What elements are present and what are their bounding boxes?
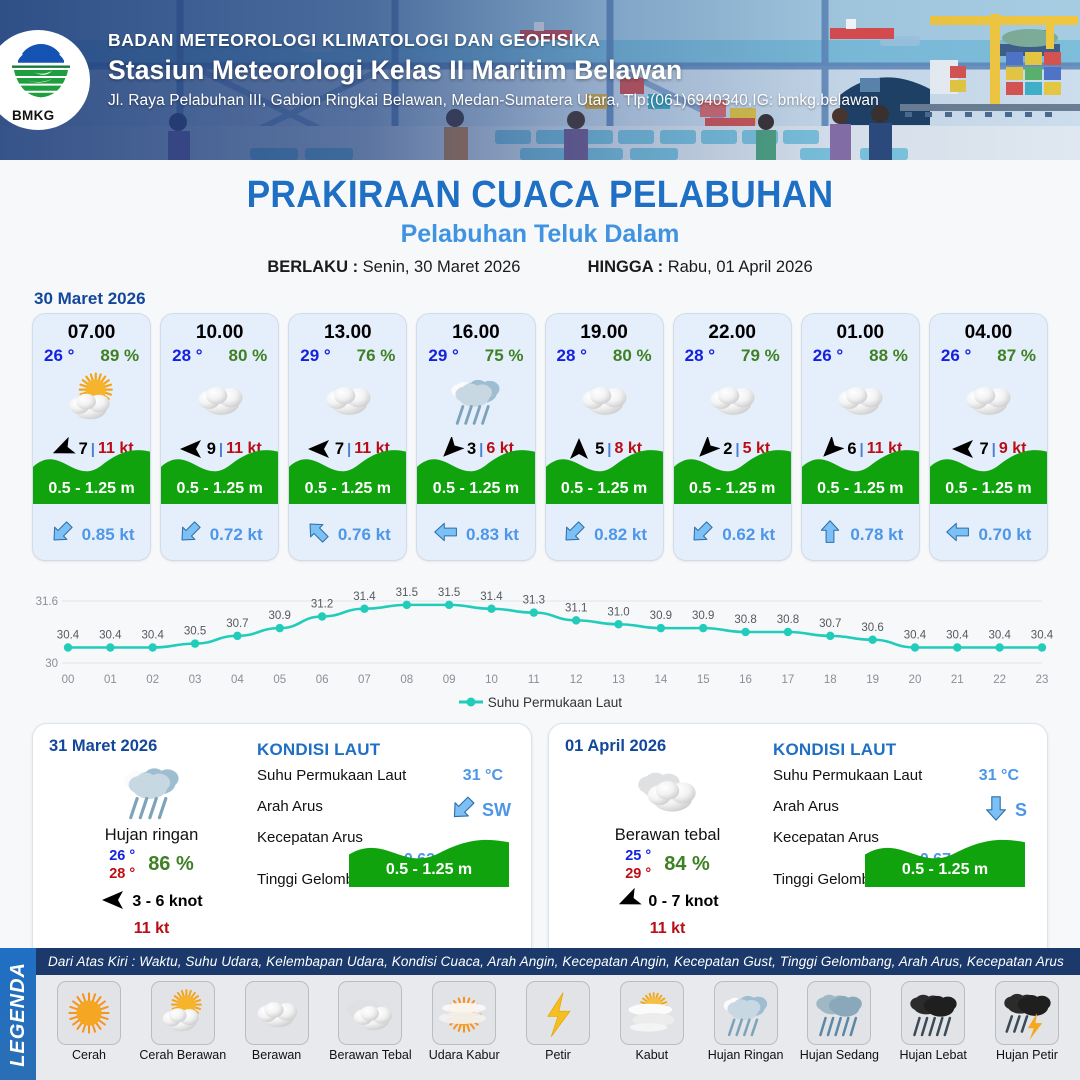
legend-body: Dari Atas Kiri : Waktu, Suhu Udara, Kele…	[36, 948, 1080, 1080]
card-current-speed: 0.62 kt	[722, 525, 775, 545]
card-humidity: 76 %	[357, 346, 396, 366]
card-humidity: 75 %	[485, 346, 524, 366]
current-direction-value: S	[1015, 800, 1027, 821]
svg-text:14: 14	[654, 674, 667, 686]
daily-gust: 11 kt	[49, 920, 254, 938]
card-wave-graphic: 0.5 - 1.25 m	[930, 440, 1047, 504]
legend-icon-berawan-tebal	[338, 981, 402, 1045]
hourly-card: 22.00 28 ° 79 % 2 | 5 kt 0.5 - 1.25 m	[673, 313, 792, 561]
card-wave-height: 0.5 - 1.25 m	[802, 480, 919, 498]
page-header: BMKG BADAN METEOROLOGI KLIMATOLOGI DAN G…	[0, 0, 1080, 160]
legend-item: Hujan Ringan	[701, 981, 791, 1062]
legend-item: Petir	[513, 981, 603, 1062]
bmkg-logo-mark	[8, 42, 74, 104]
svg-text:30.9: 30.9	[692, 610, 714, 622]
daily-wind-arrow-icon	[100, 888, 126, 917]
legend-item-label: Udara Kabur	[419, 1048, 509, 1062]
card-humidity: 80 %	[229, 346, 268, 366]
svg-text:02: 02	[146, 674, 159, 686]
page-title: PRAKIRAAN CUACA PELABUHAN	[38, 174, 1042, 217]
card-time: 19.00	[546, 322, 663, 344]
legend-item: Hujan Lebat	[888, 981, 978, 1062]
svg-text:12: 12	[570, 674, 583, 686]
svg-text:31.5: 31.5	[396, 587, 418, 599]
card-weather-icon	[417, 368, 534, 430]
agency-name: BADAN METEOROLOGI KLIMATOLOGI DAN GEOFIS…	[108, 30, 1058, 51]
svg-text:00: 00	[62, 674, 75, 686]
daily-wave-graphic: 0.5 - 1.25 m	[865, 831, 1025, 887]
svg-text:30.4: 30.4	[988, 630, 1011, 642]
legend-item: Hujan Sedang	[794, 981, 884, 1062]
chart-legend-swatch	[458, 696, 484, 711]
legend-icon-hujan-sedang	[807, 981, 871, 1045]
card-wave-height: 0.5 - 1.25 m	[289, 480, 406, 498]
svg-text:30.4: 30.4	[1031, 630, 1054, 642]
svg-text:31.4: 31.4	[480, 591, 503, 603]
daily-temp-max: 28 °	[109, 866, 135, 882]
legend-sidebar-title: LEGENDA	[7, 962, 30, 1067]
card-wave-height: 0.5 - 1.25 m	[161, 480, 278, 498]
card-wave-graphic: 0.5 - 1.25 m	[289, 440, 406, 504]
current-direction-label: Arah Arus	[773, 798, 839, 815]
hourly-card: 10.00 28 ° 80 % 9 | 11 kt 0.5 - 1.25 m	[160, 313, 279, 561]
svg-text:10: 10	[485, 674, 498, 686]
svg-text:19: 19	[866, 674, 879, 686]
sst-label: Suhu Permukaan Laut	[257, 767, 406, 784]
legend-item: Udara Kabur	[419, 981, 509, 1062]
card-temperature: 26 °	[813, 346, 843, 366]
card-wave-graphic: 0.5 - 1.25 m	[802, 440, 919, 504]
card-current-speed: 0.83 kt	[466, 525, 519, 545]
card-wave-graphic: 0.5 - 1.25 m	[161, 440, 278, 504]
current-direction-arrow-icon	[433, 519, 459, 550]
card-weather-icon	[802, 368, 919, 430]
card-time: 01.00	[802, 322, 919, 344]
card-temperature: 29 °	[428, 346, 458, 366]
svg-text:30.4: 30.4	[946, 630, 969, 642]
legend-icon-berawan	[245, 981, 309, 1045]
legend-icon-hujan-ringan	[714, 981, 778, 1045]
legend-item: Kabut	[607, 981, 697, 1062]
svg-text:08: 08	[400, 674, 413, 686]
card-temperature: 26 °	[44, 346, 74, 366]
card-temperature: 26 °	[941, 346, 971, 366]
sea-conditions-title: KONDISI LAUT	[257, 740, 517, 760]
legend-item: Hujan Petir	[982, 981, 1072, 1062]
valid-from-value: Senin, 30 Maret 2026	[363, 258, 521, 276]
card-humidity: 88 %	[869, 346, 908, 366]
svg-text:30.4: 30.4	[142, 630, 165, 642]
card-time: 10.00	[161, 322, 278, 344]
daily-gust: 11 kt	[565, 920, 770, 938]
current-direction-arrow-icon	[177, 519, 203, 550]
svg-text:20: 20	[909, 674, 922, 686]
valid-until-value: Rabu, 01 April 2026	[668, 258, 813, 276]
daily-temp-max: 29 °	[625, 866, 651, 882]
legend-item: Berawan Tebal	[325, 981, 415, 1062]
legend-item-label: Petir	[513, 1048, 603, 1062]
hourly-card: 19.00 28 ° 80 % 5 | 8 kt 0.5 - 1.25 m	[545, 313, 664, 561]
sst-chart: 31.63030.40030.40130.40230.50330.70430.9…	[24, 575, 1056, 693]
card-time: 22.00	[674, 322, 791, 344]
legend-item: Berawan	[232, 981, 322, 1062]
current-direction-arrow-icon	[49, 519, 75, 550]
legend-item-label: Hujan Petir	[982, 1048, 1072, 1062]
current-direction-arrow-icon	[689, 519, 715, 550]
legend-icon-cerah-berawan	[151, 981, 215, 1045]
svg-text:23: 23	[1036, 674, 1049, 686]
card-weather-icon	[289, 368, 406, 430]
daily-current-arrow-icon	[449, 794, 477, 827]
daily-temp-min: 25 °	[625, 848, 651, 864]
daily-wave-height: 0.5 - 1.25 m	[865, 861, 1025, 879]
svg-text:31.6: 31.6	[36, 596, 58, 608]
card-wave-graphic: 0.5 - 1.25 m	[546, 440, 663, 504]
hourly-card: 13.00 29 ° 76 % 7 | 11 kt 0.5 - 1.25 m	[288, 313, 407, 561]
daily-humidity: 86 %	[148, 853, 194, 876]
svg-text:31.2: 31.2	[311, 599, 333, 611]
validity-row: BERLAKU : Senin, 30 Maret 2026 HINGGA : …	[0, 258, 1080, 277]
svg-text:30.9: 30.9	[650, 610, 672, 622]
legend-item-label: Kabut	[607, 1048, 697, 1062]
card-wave-height: 0.5 - 1.25 m	[674, 480, 791, 498]
svg-text:04: 04	[231, 674, 244, 686]
card-wave-graphic: 0.5 - 1.25 m	[417, 440, 534, 504]
card-weather-icon	[546, 368, 663, 430]
page-subtitle: Pelabuhan Teluk Dalam	[0, 220, 1080, 249]
hourly-card: 07.00 26 ° 89 % 7 | 11 kt 0.5 - 1.25 m	[32, 313, 151, 561]
legend-item: Cerah Berawan	[138, 981, 228, 1062]
svg-text:30.6: 30.6	[861, 622, 883, 634]
svg-text:30.8: 30.8	[777, 614, 799, 626]
daily-panel: 01 April 2026 Berawan tebal 25 ° 29 ° 84…	[548, 723, 1048, 967]
legend-item: Cerah	[44, 981, 134, 1062]
legend-item-label: Berawan	[232, 1048, 322, 1062]
svg-text:21: 21	[951, 674, 964, 686]
card-humidity: 80 %	[613, 346, 652, 366]
current-speed-label: Kecepatan Arus	[773, 829, 879, 846]
svg-text:30.7: 30.7	[819, 618, 841, 630]
daily-weather-icon	[565, 758, 770, 822]
current-direction-arrow-icon	[945, 519, 971, 550]
card-current-speed: 0.72 kt	[210, 525, 263, 545]
card-humidity: 87 %	[997, 346, 1036, 366]
valid-from-label: BERLAKU :	[267, 258, 358, 276]
daily-wave-graphic: 0.5 - 1.25 m	[349, 831, 509, 887]
svg-text:17: 17	[782, 674, 795, 686]
legend-item-label: Hujan Sedang	[794, 1048, 884, 1062]
sst-value: 31 °C	[463, 767, 503, 785]
card-current-speed: 0.85 kt	[82, 525, 135, 545]
card-weather-icon	[161, 368, 278, 430]
svg-text:30.8: 30.8	[734, 614, 756, 626]
card-wave-graphic: 0.5 - 1.25 m	[674, 440, 791, 504]
svg-text:31.3: 31.3	[523, 595, 545, 607]
current-speed-label: Kecepatan Arus	[257, 829, 363, 846]
svg-text:13: 13	[612, 674, 625, 686]
card-time: 13.00	[289, 322, 406, 344]
svg-text:30.7: 30.7	[226, 618, 248, 630]
station-name: Stasiun Meteorologi Kelas II Maritim Bel…	[108, 55, 1058, 86]
daily-condition: Hujan ringan	[49, 826, 254, 845]
daily-weather-icon	[49, 758, 254, 822]
legend-icon-petir	[526, 981, 590, 1045]
card-wave-height: 0.5 - 1.25 m	[930, 480, 1047, 498]
hourly-card: 16.00 29 ° 75 % 3 | 6 kt	[416, 313, 535, 561]
legend-item-label: Cerah Berawan	[138, 1048, 228, 1062]
legend-items: Cerah Cerah Berawan Berawan	[36, 975, 1080, 1062]
card-temperature: 28 °	[172, 346, 202, 366]
svg-text:18: 18	[824, 674, 837, 686]
svg-text:16: 16	[739, 674, 752, 686]
chart-legend: Suhu Permukaan Laut	[0, 695, 1080, 711]
card-wave-graphic: 0.5 - 1.25 m	[33, 440, 150, 504]
card-weather-icon	[33, 368, 150, 430]
svg-text:05: 05	[273, 674, 286, 686]
svg-text:11: 11	[528, 674, 540, 686]
legend-item-label: Berawan Tebal	[325, 1048, 415, 1062]
daily-humidity: 84 %	[664, 853, 710, 876]
hourly-card: 04.00 26 ° 87 % 7 | 9 kt 0.5 - 1.25 m	[929, 313, 1048, 561]
card-wave-height: 0.5 - 1.25 m	[546, 480, 663, 498]
chart-legend-label: Suhu Permukaan Laut	[488, 695, 622, 710]
current-direction-arrow-icon	[561, 519, 587, 550]
svg-text:15: 15	[697, 674, 710, 686]
card-temperature: 29 °	[300, 346, 330, 366]
svg-text:30: 30	[45, 658, 58, 670]
daily-wind-arrow-icon	[616, 888, 642, 917]
card-current-speed: 0.82 kt	[594, 525, 647, 545]
legend-icon-cerah	[57, 981, 121, 1045]
card-time: 07.00	[33, 322, 150, 344]
legend-icon-kabut	[620, 981, 684, 1045]
daily-wave-height: 0.5 - 1.25 m	[349, 861, 509, 879]
svg-text:30.4: 30.4	[904, 630, 927, 642]
svg-text:31.1: 31.1	[565, 602, 587, 614]
svg-text:31.5: 31.5	[438, 587, 460, 599]
sst-chart-svg: 31.63030.40030.40130.40230.50330.70430.9…	[24, 575, 1056, 693]
svg-text:30.4: 30.4	[99, 630, 122, 642]
card-current-speed: 0.70 kt	[978, 525, 1031, 545]
svg-text:01: 01	[104, 674, 117, 686]
svg-text:30.9: 30.9	[269, 610, 291, 622]
sst-label: Suhu Permukaan Laut	[773, 767, 922, 784]
card-temperature: 28 °	[685, 346, 715, 366]
card-humidity: 79 %	[741, 346, 780, 366]
current-direction-value: SW	[482, 800, 511, 821]
card-weather-icon	[674, 368, 791, 430]
daily-panel: 31 Maret 2026 Hujan ringan 26 ° 28 °	[32, 723, 532, 967]
svg-text:31.4: 31.4	[353, 591, 376, 603]
bmkg-logo-text: BMKG	[12, 108, 54, 123]
hourly-forecast-list: 07.00 26 ° 89 % 7 | 11 kt 0.5 - 1.25 m	[0, 313, 1080, 561]
daily-temp-min: 26 °	[109, 848, 135, 864]
daily-forecast-panels: 31 Maret 2026 Hujan ringan 26 ° 28 °	[0, 711, 1080, 967]
legend-icon-hujan-lebat	[901, 981, 965, 1045]
card-time: 04.00	[930, 322, 1047, 344]
card-current-speed: 0.76 kt	[338, 525, 391, 545]
hourly-card: 01.00 26 ° 88 % 6 | 11 kt 0.5 - 1.25 m	[801, 313, 920, 561]
daily-current-arrow-icon	[982, 794, 1010, 827]
card-current-speed: 0.78 kt	[850, 525, 903, 545]
legend-icon-udara-kabur	[432, 981, 496, 1045]
daily-wind-speed: 0 - 7 knot	[648, 893, 718, 911]
valid-until-label: HINGGA :	[588, 258, 663, 276]
legend-item-label: Hujan Lebat	[888, 1048, 978, 1062]
svg-text:07: 07	[358, 674, 371, 686]
legend-item-label: Hujan Ringan	[701, 1048, 791, 1062]
card-time: 16.00	[417, 322, 534, 344]
card-wave-height: 0.5 - 1.25 m	[33, 480, 150, 498]
current-direction-arrow-icon	[817, 519, 843, 550]
legend-sidebar: LEGENDA	[0, 948, 36, 1080]
sst-value: 31 °C	[979, 767, 1019, 785]
hourly-date-label: 30 Maret 2026	[34, 289, 1080, 309]
svg-text:03: 03	[189, 674, 202, 686]
card-temperature: 28 °	[557, 346, 587, 366]
card-weather-icon	[930, 368, 1047, 430]
current-direction-arrow-icon	[305, 519, 331, 550]
svg-text:30.5: 30.5	[184, 626, 206, 638]
svg-text:22: 22	[993, 674, 1006, 686]
station-address: Jl. Raya Pelabuhan III, Gabion Ringkai B…	[108, 92, 1058, 110]
card-humidity: 89 %	[100, 346, 139, 366]
svg-text:30.4: 30.4	[57, 630, 80, 642]
svg-text:09: 09	[443, 674, 456, 686]
legend-section: LEGENDA Dari Atas Kiri : Waktu, Suhu Uda…	[0, 948, 1080, 1080]
legend-icon-hujan-petir	[995, 981, 1059, 1045]
card-wave-height: 0.5 - 1.25 m	[417, 480, 534, 498]
daily-condition: Berawan tebal	[565, 826, 770, 845]
current-direction-label: Arah Arus	[257, 798, 323, 815]
legend-note: Dari Atas Kiri : Waktu, Suhu Udara, Kele…	[36, 948, 1080, 975]
daily-wind-speed: 3 - 6 knot	[132, 893, 202, 911]
sea-conditions-title: KONDISI LAUT	[773, 740, 1033, 760]
legend-item-label: Cerah	[44, 1048, 134, 1062]
title-block: PRAKIRAAN CUACA PELABUHAN Pelabuhan Telu…	[0, 174, 1080, 277]
svg-text:31.0: 31.0	[607, 606, 629, 618]
svg-text:06: 06	[316, 674, 329, 686]
